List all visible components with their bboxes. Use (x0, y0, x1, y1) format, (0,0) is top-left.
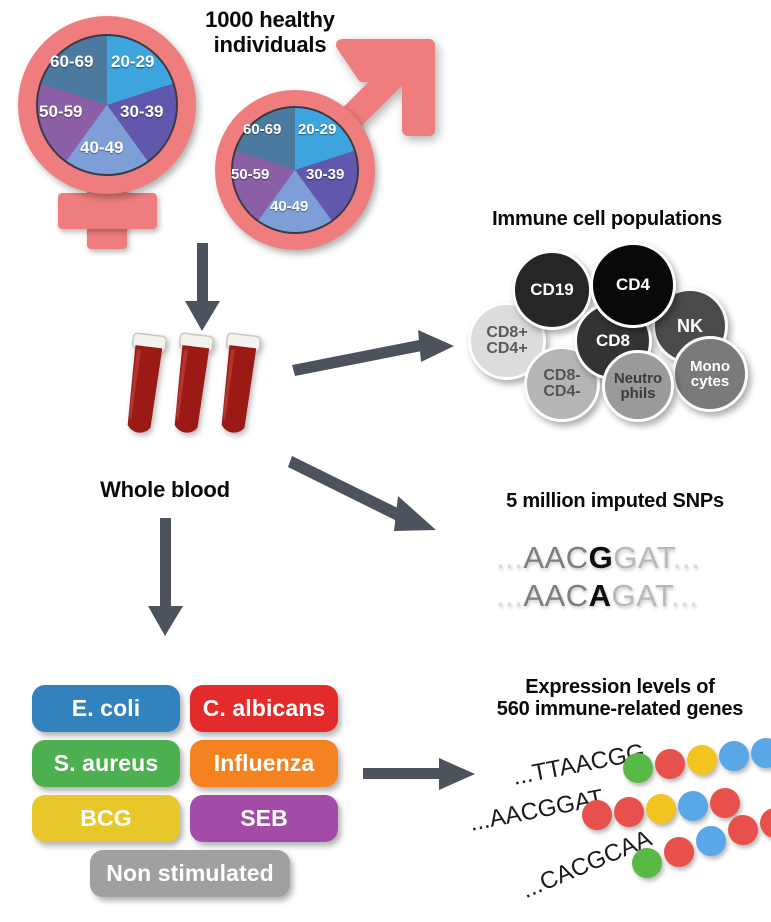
expression-title-line-2: 560 immune-related genes (470, 698, 770, 720)
pie-label-60-69: 60-69 (243, 121, 281, 138)
male-cohort-symbol: 60-69 20-29 50-59 30-39 40-49 (205, 38, 440, 248)
arrow-down-to-blood (180, 243, 226, 335)
expression-bead (751, 738, 771, 768)
pie-label-50-59: 50-59 (39, 102, 82, 122)
cell-label-line: phils (614, 386, 662, 401)
snp-prefix: ... (496, 578, 523, 613)
immune-cell-cluster: CD8+CD4+ CD19 CD4 NK CD8 CD8-CD4- Neutro… (460, 240, 760, 420)
pie-label-60-69: 60-69 (50, 52, 93, 72)
immune-cell-neutrophils: Neutrophils (602, 350, 674, 422)
snp-left: AAC (523, 578, 588, 613)
cell-label-line: Mono (690, 359, 730, 374)
expression-bead (687, 745, 717, 775)
arrow-to-expression (363, 756, 478, 794)
stimulus-pill-c-albicans[interactable]: C. albicans (190, 685, 338, 732)
blood-tube (216, 333, 261, 435)
expression-strand-3: ...CACGCAA (535, 838, 771, 908)
blood-tubes-group (95, 330, 295, 460)
cell-label-line: CD8 (596, 332, 630, 349)
expression-bead (655, 749, 685, 779)
stimulus-pill-influenza[interactable]: Influenza (190, 740, 338, 787)
pie-label-20-29: 20-29 (298, 121, 336, 138)
snp-right: GAT (613, 540, 673, 575)
cell-label-line: CD8+ (486, 325, 527, 341)
arrow-down-to-stimuli (143, 518, 189, 640)
expression-title-line-1: Expression levels of (470, 676, 770, 698)
stimulus-pill-s-aureus[interactable]: S. aureus (32, 740, 180, 787)
expression-bead (696, 826, 726, 856)
expression-bead (582, 800, 612, 830)
cell-label-line: Neutro (614, 371, 662, 386)
expression-bead (728, 815, 758, 845)
pie-label-40-49: 40-49 (80, 138, 123, 158)
snp-variant-base: A (589, 578, 612, 613)
pie-label-30-39: 30-39 (120, 102, 163, 122)
snp-panel-title: 5 million imputed SNPs (470, 490, 760, 512)
cell-label-line: NK (677, 317, 703, 335)
expression-bead (664, 837, 694, 867)
expression-panel-title: Expression levels of 560 immune-related … (470, 676, 770, 721)
immune-panel-title: Immune cell populations (452, 208, 762, 230)
stimulus-pill-seb[interactable]: SEB (190, 795, 338, 842)
snp-left: AAC (523, 540, 588, 575)
expression-bead (614, 797, 644, 827)
immune-cell-cd4p: CD4 (590, 242, 676, 328)
snp-sequence-allele-1: ...AACGGAT... (496, 540, 700, 576)
expression-bead (632, 848, 662, 878)
snp-prefix: ... (496, 540, 523, 575)
expression-bead (710, 788, 740, 818)
pie-label-40-49: 40-49 (270, 198, 308, 215)
stimulus-pill-non-stimulated[interactable]: Non stimulated (90, 850, 290, 897)
arrow-to-snps (288, 452, 448, 547)
snp-right: GAT (611, 578, 671, 613)
cell-label-line: cytes (690, 374, 730, 389)
expression-bead (719, 741, 749, 771)
snp-variant-base: G (589, 540, 614, 575)
stimulus-pill-bcg[interactable]: BCG (32, 795, 180, 842)
blood-tube (169, 333, 214, 435)
pie-label-30-39: 30-39 (306, 166, 344, 183)
expression-bead (678, 791, 708, 821)
blood-tube (122, 333, 167, 435)
cell-label-line: CD4+ (486, 341, 527, 357)
snp-sequence-allele-2: ...AACAGAT... (496, 578, 698, 614)
snp-suffix: ... (673, 540, 700, 575)
expression-bead (760, 808, 771, 838)
pie-label-20-29: 20-29 (111, 52, 154, 72)
cell-label-line: CD4 (616, 276, 650, 293)
stimulus-pill-e-coli[interactable]: E. coli (32, 685, 180, 732)
snp-suffix: ... (671, 578, 698, 613)
whole-blood-label: Whole blood (80, 478, 250, 503)
expression-bead (646, 794, 676, 824)
expression-bead (623, 753, 653, 783)
cell-label-line: CD8- (543, 368, 580, 384)
cell-label-line: CD4- (543, 384, 580, 400)
pie-label-50-59: 50-59 (231, 166, 269, 183)
female-symbol-crossbar (58, 193, 157, 229)
cell-label-line: CD19 (530, 281, 573, 298)
immune-cell-monocytes: Monocytes (672, 336, 748, 412)
headline-line-1: 1000 healthy (170, 8, 370, 33)
arrow-to-immune-cells (292, 330, 462, 380)
